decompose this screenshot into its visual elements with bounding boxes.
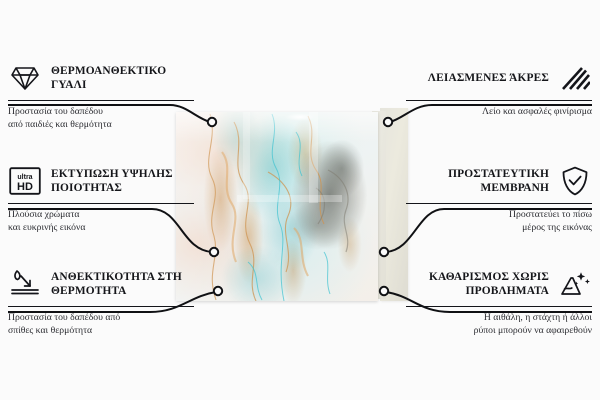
feature-desc-line2: ρύποι μπορούν να αφαιρεθούν [406,325,592,338]
ultra-hd-bottom-label: HD [17,181,33,193]
product-image [176,108,408,304]
feature-easy-cleaning: ΚΑΘΑΡΙΣΜΟΣ ΧΩΡΙΣ ΠΡΟΒΛΗΜΑΤΑ Η αιθάλη, η … [406,266,592,338]
feature-title: ΘΕΡΜΟΑΝΘΕΚΤΙΚΟ ΓΥΑΛΙ [51,64,194,92]
feature-header: ΚΑΘΑΡΙΣΜΟΣ ΧΩΡΙΣ ΠΡΟΒΛΗΜΑΤΑ [406,266,592,302]
feature-title: ΕΚΤΥΠΩΣΗ ΥΨΗΛΗΣ ΠΟΙΟΤΗΤΑΣ [51,167,194,195]
flame-resistant-icon [8,268,42,300]
feature-header: ΑΝΘΕΚΤΙΚΟΤΗΤΑ ΣΤΗ ΘΕΡΜΟΤΗΤΑ [8,266,194,302]
ultra-hd-icon: ultra HD [8,165,42,197]
window-reflection-left [243,112,250,199]
window-reflection-right [309,112,318,203]
feature-header: ΘΕΡΜΟΑΝΘΕΚΤΙΚΟ ΓΥΑΛΙ [8,60,194,96]
artwork-vein-lines [176,112,378,301]
feature-divider [406,100,592,101]
feature-desc-line2: και ευκρινής εικόνα [8,222,194,235]
diamond-icon [8,62,42,94]
feature-high-quality-print: ultra HD ΕΚΤΥΠΩΣΗ ΥΨΗΛΗΣ ΠΟΙΟΤΗΤΑΣ Πλούσ… [8,163,194,235]
glass-panel [176,112,378,301]
feature-desc-line1: Προστασία του δαπέδου από [8,312,194,325]
shield-check-icon [558,165,592,197]
feature-desc-line1: Προστατεύει το πίσω [406,209,592,222]
feature-header: ΠΡΟΣΤΑΤΕΥΤΙΚΗ ΜΕΜΒΡΑΝΗ [406,163,592,199]
feature-divider [406,306,592,307]
feature-desc-line2: μέρος της εικόνας [406,222,592,235]
window-reflection-horizontal [237,195,342,202]
smooth-edges-icon [558,62,592,94]
feature-header: ΛΕΙΑΣΜΕΝΕΣ ΆΚΡΕΣ [406,60,592,96]
easy-clean-sparkle-icon [558,268,592,300]
feature-desc-line1: Πλούσια χρώματα [8,209,194,222]
feature-smooth-edges: ΛΕΙΑΣΜΕΝΕΣ ΆΚΡΕΣ Λείο και ασφαλές φινίρι… [406,60,592,119]
feature-divider [8,203,194,204]
feature-divider [8,100,194,101]
glass-glare [285,113,315,121]
feature-title: ΛΕΙΑΣΜΕΝΕΣ ΆΚΡΕΣ [428,71,549,85]
infographic-root: ΘΕΡΜΟΑΝΘΕΚΤΙΚΟ ΓΥΑΛΙ Προστασία του δαπέδ… [0,0,600,400]
feature-heat-resistant-glass: ΘΕΡΜΟΑΝΘΕΚΤΙΚΟ ΓΥΑΛΙ Προστασία του δαπέδ… [8,60,194,132]
feature-title: ΑΝΘΕΚΤΙΚΟΤΗΤΑ ΣΤΗ ΘΕΡΜΟΤΗΤΑ [51,270,194,298]
feature-desc-line1: Προστασία του δαπέδου [8,106,194,119]
feature-desc-line1: Λείο και ασφαλές φινίρισμα [406,106,592,119]
feature-desc-line2: από παιδιές και θερμότητα [8,119,194,132]
feature-title: ΚΑΘΑΡΙΣΜΟΣ ΧΩΡΙΣ ΠΡΟΒΛΗΜΑΤΑ [406,270,549,298]
feature-desc-line2: σπίθες και θερμότητα [8,325,194,338]
feature-divider [8,306,194,307]
feature-title: ΠΡΟΣΤΑΤΕΥΤΙΚΗ ΜΕΜΒΡΑΝΗ [406,167,549,195]
feature-heat-durability: ΑΝΘΕΚΤΙΚΟΤΗΤΑ ΣΤΗ ΘΕΡΜΟΤΗΤΑ Προστασία το… [8,266,194,338]
feature-desc-line1: Η αιθάλη, η στάχτη ή άλλοι [406,312,592,325]
feature-divider [406,203,592,204]
ultra-hd-top-label: ultra [17,174,32,181]
feature-protective-membrane: ΠΡΟΣΤΑΤΕΥΤΙΚΗ ΜΕΜΒΡΑΝΗ Προστατεύει το πί… [406,163,592,235]
feature-header: ultra HD ΕΚΤΥΠΩΣΗ ΥΨΗΛΗΣ ΠΟΙΟΤΗΤΑΣ [8,163,194,199]
